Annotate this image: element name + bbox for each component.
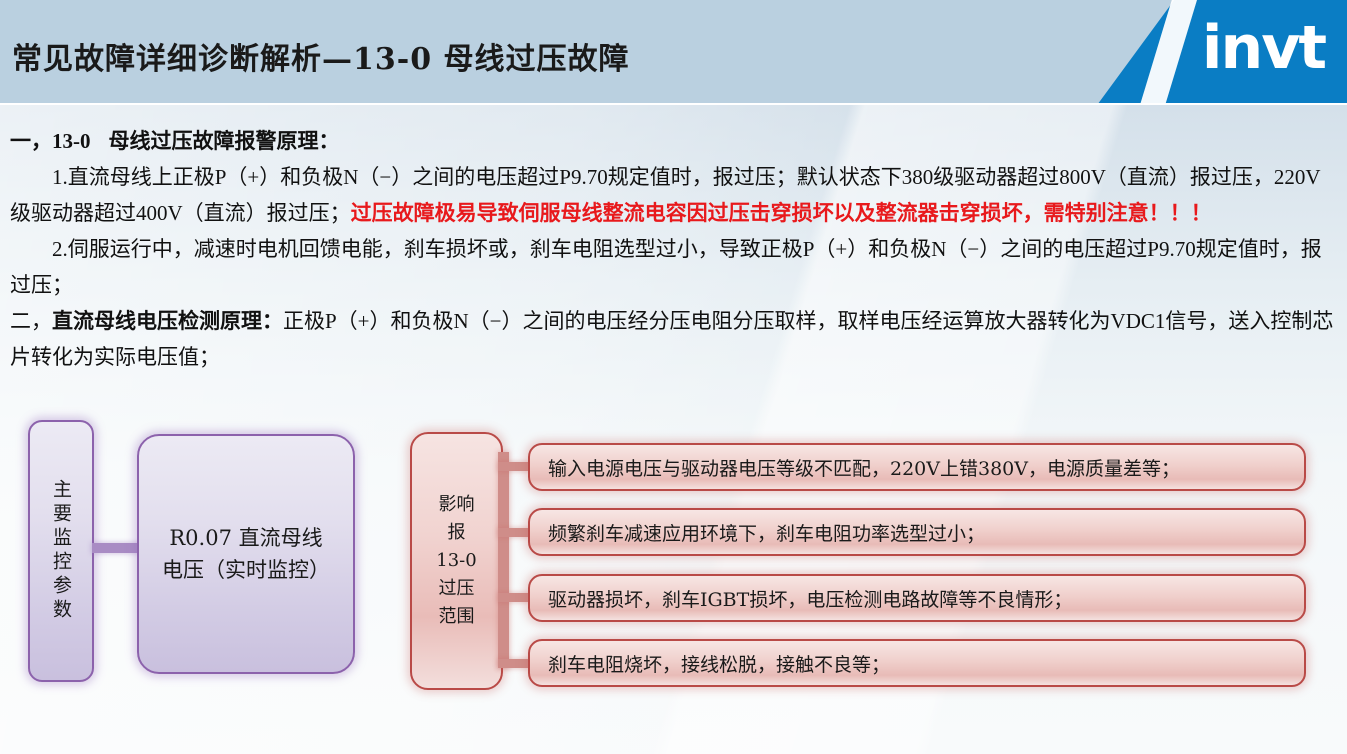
scope-line-3: 过压 <box>438 578 474 599</box>
diagram-cause-item-4[interactable]: 刹车电阻烧坏，接线松脱，接触不良等； <box>528 639 1306 687</box>
diagram-cause-item-2-label: 频繁刹车减速应用环境下，刹车电阻功率选型过小； <box>548 519 985 546</box>
scope-line-1: 报 <box>447 522 465 543</box>
connector-arm-3 <box>498 593 532 602</box>
diagram-node-main-parameters[interactable]: 主要监控参数 <box>28 420 94 682</box>
scope-line-4: 范围 <box>438 606 474 627</box>
monitor-line-1: R0.07 直流母线 <box>169 526 322 550</box>
connector-spine <box>498 452 509 668</box>
slide-canvas: invt 常见故障详细诊断解析—13-0 母线过压故障 一，13-0母线过压故障… <box>0 0 1347 754</box>
fault-diagram: 主要监控参数 R0.07 直流母线 电压（实时监控） 影响 报 13-0 过压 … <box>0 0 1347 754</box>
diagram-node-bus-voltage-monitor-label: R0.07 直流母线 电压（实时监控） <box>162 522 330 586</box>
monitor-line-2: 电压（实时监控） <box>162 558 330 582</box>
diagram-node-fault-scope[interactable]: 影响 报 13-0 过压 范围 <box>410 432 503 690</box>
connector-arm-1 <box>498 462 532 471</box>
diagram-node-fault-scope-label: 影响 报 13-0 过压 范围 <box>436 491 476 631</box>
diagram-cause-item-4-label: 刹车电阻烧坏，接线松脱，接触不良等； <box>548 650 890 677</box>
diagram-cause-item-3[interactable]: 驱动器损坏，刹车IGBT损坏，电压检测电路故障等不良情形； <box>528 574 1306 622</box>
diagram-cause-item-1[interactable]: 输入电源电压与驱动器电压等级不匹配，220V上错380V，电源质量差等； <box>528 443 1306 491</box>
diagram-cause-item-3-label: 驱动器损坏，刹车IGBT损坏，电压检测电路故障等不良情形； <box>548 585 1072 612</box>
connector-arm-4 <box>498 659 532 668</box>
connector-arm-2 <box>498 528 532 537</box>
diagram-cause-item-1-label: 输入电源电压与驱动器电压等级不匹配，220V上错380V，电源质量差等； <box>548 454 1180 481</box>
connector-main-to-monitor <box>92 543 140 553</box>
scope-line-0: 影响 <box>438 494 474 515</box>
diagram-node-bus-voltage-monitor[interactable]: R0.07 直流母线 电压（实时监控） <box>137 434 355 674</box>
diagram-cause-item-2[interactable]: 频繁刹车减速应用环境下，刹车电阻功率选型过小； <box>528 508 1306 556</box>
scope-line-2: 13-0 <box>436 550 476 571</box>
diagram-node-main-parameters-label: 主要监控参数 <box>46 479 76 623</box>
